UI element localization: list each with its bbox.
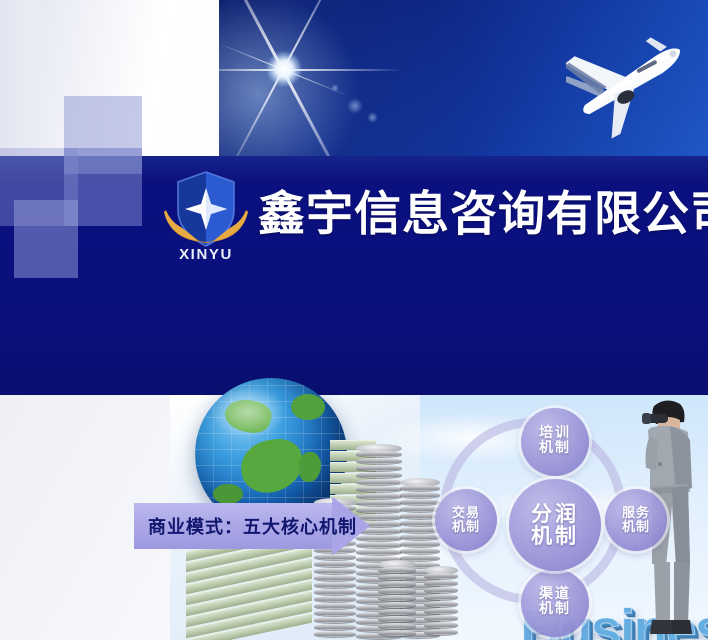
node-line-1: 培训 <box>539 427 571 442</box>
lens-flare-star-icon <box>267 52 301 86</box>
node-training-mechanism[interactable]: 培训 机制 <box>521 408 589 476</box>
left-white-gradient-strip <box>0 0 42 156</box>
flare-ghost <box>367 112 378 123</box>
landmass <box>213 484 243 504</box>
coin-stack <box>378 560 416 640</box>
node-line-1: 服务 <box>622 506 650 520</box>
flare-ghost <box>347 98 363 114</box>
node-line-2: 机制 <box>539 442 571 457</box>
decorative-square <box>14 200 78 278</box>
company-logo: XINYU <box>158 166 254 262</box>
node-line-1: 分润 <box>531 503 579 525</box>
flare-ghost <box>331 84 339 92</box>
flare-ray <box>283 69 403 71</box>
landmass <box>291 394 325 420</box>
node-transaction-mechanism[interactable]: 交易 机制 <box>435 489 497 551</box>
airplane-icon <box>566 18 698 140</box>
node-channel-mechanism[interactable]: 渠道 机制 <box>521 569 589 637</box>
node-line-1: 交易 <box>452 506 480 520</box>
logo-wordmark: XINYU <box>179 246 233 262</box>
node-service-mechanism[interactable]: 服务 机制 <box>605 489 667 551</box>
node-line-2: 机制 <box>622 520 650 534</box>
business-model-banner: 商业模式：五大核心机制 <box>134 503 370 549</box>
globe-highlight <box>209 386 287 438</box>
page-title: 鑫宇信息咨询有限公司 <box>258 172 708 246</box>
banner-label: 商业模式：五大核心机制 <box>148 503 357 549</box>
coin-stack <box>424 566 458 640</box>
node-line-1: 渠道 <box>539 588 571 603</box>
node-line-2: 机制 <box>531 525 579 547</box>
presentation-slide: XINYU 鑫宇信息咨询有限公司 <box>0 0 708 640</box>
node-line-2: 机制 <box>452 520 480 534</box>
node-profit-sharing-mechanism[interactable]: 分润 机制 <box>509 479 601 571</box>
node-line-2: 机制 <box>539 603 571 618</box>
